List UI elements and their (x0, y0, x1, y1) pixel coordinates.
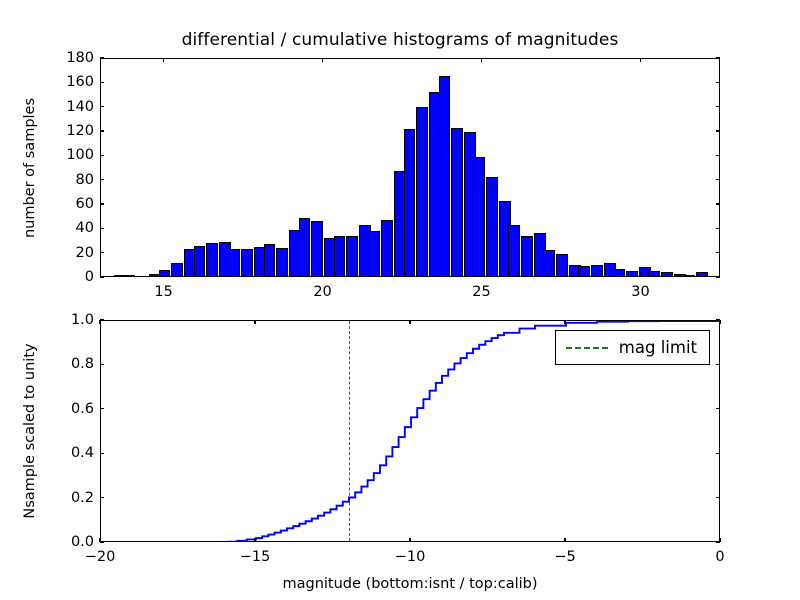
legend: mag limit (555, 330, 710, 365)
legend-label-mag-limit: mag limit (619, 338, 697, 357)
y-tick-label-bottom: 0.8 (71, 356, 94, 372)
x-tick-mark-bottom-top (254, 320, 255, 324)
histogram-bar (486, 177, 498, 276)
histogram-bar (124, 275, 136, 276)
x-tick-mark-bottom-top (99, 320, 100, 324)
y-tick-label-top: 140 (66, 99, 94, 115)
y-tick-mark-bottom (100, 319, 104, 320)
y-tick-mark-top (100, 106, 104, 107)
y-tick-mark-bottom-right (716, 453, 720, 454)
y-tick-mark-top-right (716, 82, 720, 83)
y-tick-mark-bottom-right (716, 541, 720, 542)
histogram-bar (696, 272, 708, 276)
histogram-bar (613, 269, 625, 276)
histogram-bar (556, 254, 568, 276)
x-axis-label: magnitude (bottom:isnt / top:calib) (282, 576, 537, 592)
y-tick-label-top: 160 (66, 74, 94, 90)
histogram-bar (416, 107, 428, 276)
y-tick-mark-bottom-right (716, 497, 720, 498)
histogram-bar (171, 263, 183, 276)
y-tick-mark-top-right (716, 228, 720, 229)
histogram-bar (648, 271, 660, 276)
x-tick-label-top: 25 (472, 284, 490, 300)
y-tick-mark-top (100, 82, 104, 83)
y-tick-mark-bottom-right (716, 319, 720, 320)
histogram-plot-area (101, 59, 719, 276)
histogram-bar (241, 249, 253, 276)
histogram-bar (264, 244, 276, 276)
bottom-panel-axes: mag limit (100, 320, 720, 542)
figure-canvas: differential / cumulative histograms of … (0, 0, 800, 600)
y-tick-label-top: 120 (66, 123, 94, 139)
y-tick-mark-bottom-right (716, 364, 720, 365)
y-tick-mark-bottom (100, 364, 104, 365)
x-tick-mark-bottom-top (564, 320, 565, 324)
histogram-bar (683, 275, 695, 276)
histogram-bar (626, 271, 638, 276)
x-tick-label-top: 30 (631, 284, 649, 300)
y-tick-mark-top-right (716, 203, 720, 204)
histogram-bar (276, 248, 288, 276)
histogram-bar (473, 157, 485, 276)
x-tick-label-bottom: −20 (85, 549, 116, 565)
y-tick-mark-top-right (716, 106, 720, 107)
histogram-bar (311, 221, 323, 276)
x-tick-mark-bottom-top (719, 320, 720, 324)
histogram-bar (299, 218, 311, 276)
x-tick-label-bottom: −15 (240, 549, 271, 565)
histogram-bar (229, 249, 241, 276)
histogram-bar (381, 220, 393, 276)
y-tick-mark-top (100, 203, 104, 204)
histogram-bar (206, 243, 218, 276)
histogram-bar (159, 270, 171, 276)
top-panel-y-axis-label: number of samples (22, 97, 38, 237)
legend-swatch-mag-limit (566, 347, 608, 349)
x-tick-mark-top (322, 273, 323, 277)
x-tick-mark-top (163, 273, 164, 277)
y-tick-mark-top (100, 130, 104, 131)
top-panel-axes (100, 58, 720, 277)
x-tick-mark-top-outer (640, 58, 641, 62)
x-tick-mark-bottom (409, 538, 410, 542)
histogram-bar (346, 236, 358, 276)
figure-title: differential / cumulative histograms of … (0, 30, 800, 50)
histogram-bar (578, 266, 590, 276)
y-tick-mark-top (100, 228, 104, 229)
histogram-bar (661, 272, 673, 276)
y-tick-label-bottom: 0.4 (71, 445, 94, 461)
y-tick-label-top: 0 (85, 269, 94, 285)
y-tick-mark-top-right (716, 155, 720, 156)
y-tick-label-bottom: 1.0 (71, 312, 94, 328)
y-tick-label-top: 180 (66, 50, 94, 66)
y-tick-label-top: 60 (76, 196, 94, 212)
histogram-bar (334, 236, 346, 276)
x-tick-label-top: 15 (154, 284, 172, 300)
y-tick-mark-bottom (100, 408, 104, 409)
histogram-bar (451, 128, 463, 276)
histogram-bar (369, 231, 381, 276)
x-tick-label-top: 20 (313, 284, 331, 300)
x-tick-label-bottom: 0 (715, 549, 724, 565)
y-tick-label-top: 20 (76, 245, 94, 261)
y-tick-mark-top (100, 155, 104, 156)
y-tick-mark-top-right (716, 252, 720, 253)
x-tick-mark-bottom-top (409, 320, 410, 324)
histogram-bar (521, 236, 533, 276)
x-tick-mark-bottom (254, 538, 255, 542)
y-tick-label-top: 40 (76, 220, 94, 236)
x-tick-mark-top (481, 273, 482, 277)
x-tick-label-bottom: −5 (554, 549, 575, 565)
histogram-bar (591, 265, 603, 276)
y-tick-mark-top (100, 179, 104, 180)
x-tick-mark-top-outer (481, 58, 482, 62)
x-tick-mark-top (640, 273, 641, 277)
y-tick-mark-bottom (100, 497, 104, 498)
y-tick-mark-top (100, 252, 104, 253)
x-tick-mark-top-outer (322, 58, 323, 62)
x-tick-mark-bottom (564, 538, 565, 542)
histogram-bar (194, 246, 206, 276)
y-tick-mark-top (100, 276, 104, 277)
y-tick-mark-top-right (716, 130, 720, 131)
y-tick-mark-top-right (716, 276, 720, 277)
y-tick-label-top: 80 (76, 172, 94, 188)
histogram-bar (404, 129, 416, 276)
y-tick-label-bottom: 0.0 (71, 534, 94, 550)
y-tick-mark-bottom (100, 453, 104, 454)
y-tick-label-top: 100 (66, 147, 94, 163)
y-tick-mark-bottom (100, 541, 104, 542)
y-tick-mark-top-right (716, 179, 720, 180)
y-tick-mark-bottom-right (716, 408, 720, 409)
y-tick-label-bottom: 0.6 (71, 401, 94, 417)
y-tick-mark-top (100, 57, 104, 58)
y-tick-mark-top-right (716, 57, 720, 58)
bottom-panel-y-axis-label: Nsample scaled to unity (22, 343, 38, 518)
y-tick-label-bottom: 0.2 (71, 490, 94, 506)
x-tick-label-bottom: −10 (395, 549, 426, 565)
histogram-bar (439, 76, 451, 276)
x-tick-mark-top-outer (163, 58, 164, 62)
histogram-bar (543, 250, 555, 276)
histogram-bar (508, 225, 520, 276)
